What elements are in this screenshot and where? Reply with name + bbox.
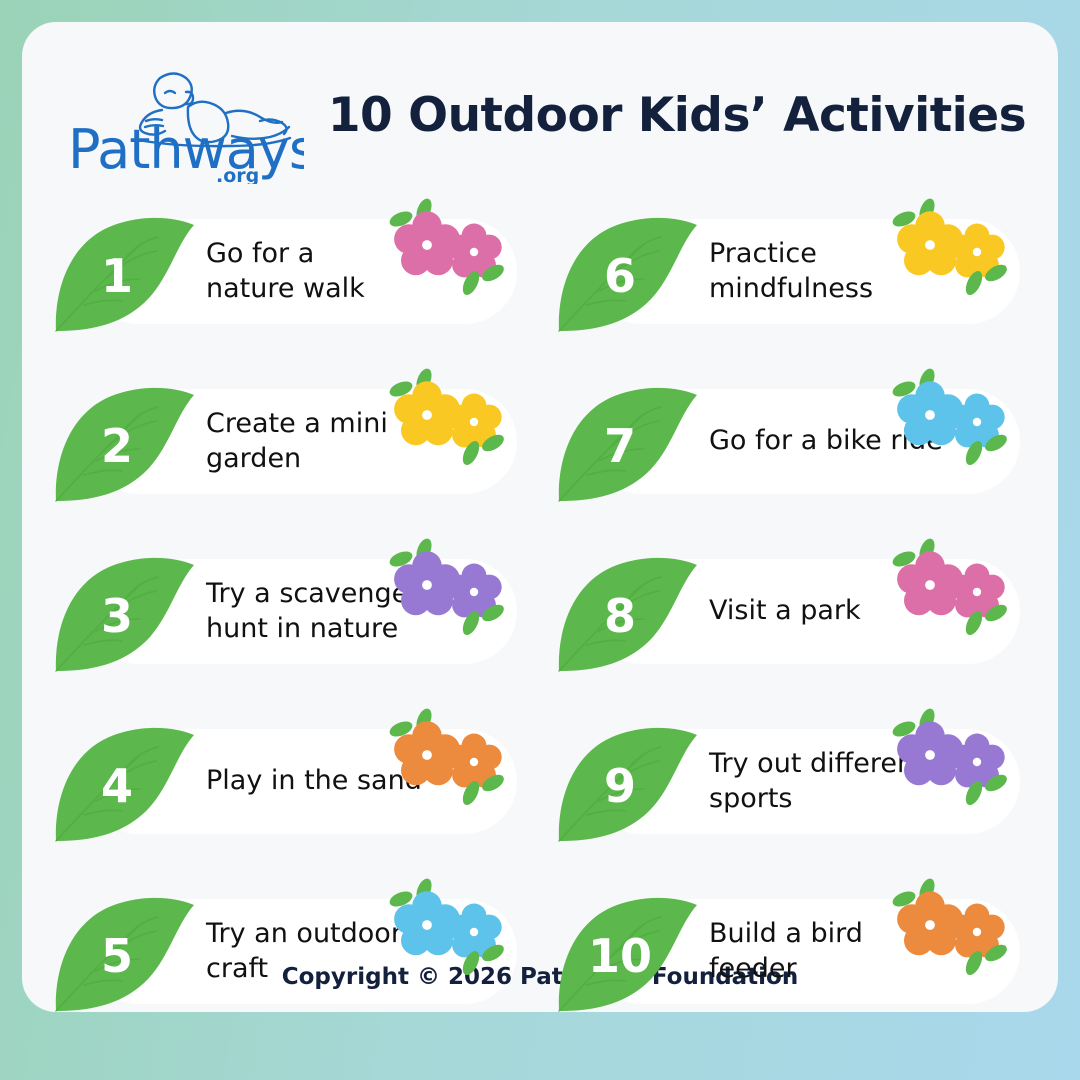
activity-item[interactable]: 8Visit a park [551, 537, 1032, 707]
activity-item[interactable]: 5Try an outdoor craft [48, 877, 529, 1047]
header: Pathways .org 10 Outdoor Kids’ Activitie… [22, 50, 1058, 190]
flower-icon-orange [379, 707, 507, 825]
flower-icon-purple [379, 537, 507, 655]
svg-text:Pathways: Pathways [68, 118, 304, 181]
leaf-icon [48, 211, 198, 336]
flower-icon-purple [882, 707, 1010, 825]
flower-icon-blue [379, 877, 507, 995]
leaf-icon [551, 211, 701, 336]
activity-item[interactable]: 10Build a bird feeder [551, 877, 1032, 1047]
flower-icon-yellow [379, 367, 507, 485]
leaf-icon [551, 891, 701, 1016]
activity-item[interactable]: 9Try out different sports [551, 707, 1032, 877]
flower-icon-yellow [882, 197, 1010, 315]
flower-icon-blue [882, 367, 1010, 485]
activity-item[interactable]: 4Play in the sand [48, 707, 529, 877]
leaf-icon [551, 551, 701, 676]
pathways-dot-org-logo: Pathways .org [64, 64, 304, 184]
activity-item[interactable]: 3Try a scavenger hunt in nature [48, 537, 529, 707]
flower-icon-pink [882, 537, 1010, 655]
svg-text:.org: .org [216, 165, 259, 184]
activity-item[interactable]: 2Create a mini garden [48, 367, 529, 537]
flower-icon-orange [882, 877, 1010, 995]
leaf-icon [48, 381, 198, 506]
leaf-icon [551, 381, 701, 506]
page-title: 10 Outdoor Kids’ Activities [307, 88, 1047, 143]
leaf-icon [48, 721, 198, 846]
activities-grid: 1Go for a nature walk 2Create a mini gar… [22, 197, 1058, 1047]
leaf-icon [48, 891, 198, 1016]
flower-icon-pink [379, 197, 507, 315]
leaf-icon [48, 551, 198, 676]
leaf-icon [551, 721, 701, 846]
infographic-panel: Pathways .org 10 Outdoor Kids’ Activitie… [22, 22, 1058, 1012]
activity-item[interactable]: 1Go for a nature walk [48, 197, 529, 367]
activity-item[interactable]: 7Go for a bike ride [551, 367, 1032, 537]
activity-item[interactable]: 6Practice mindfulness [551, 197, 1032, 367]
